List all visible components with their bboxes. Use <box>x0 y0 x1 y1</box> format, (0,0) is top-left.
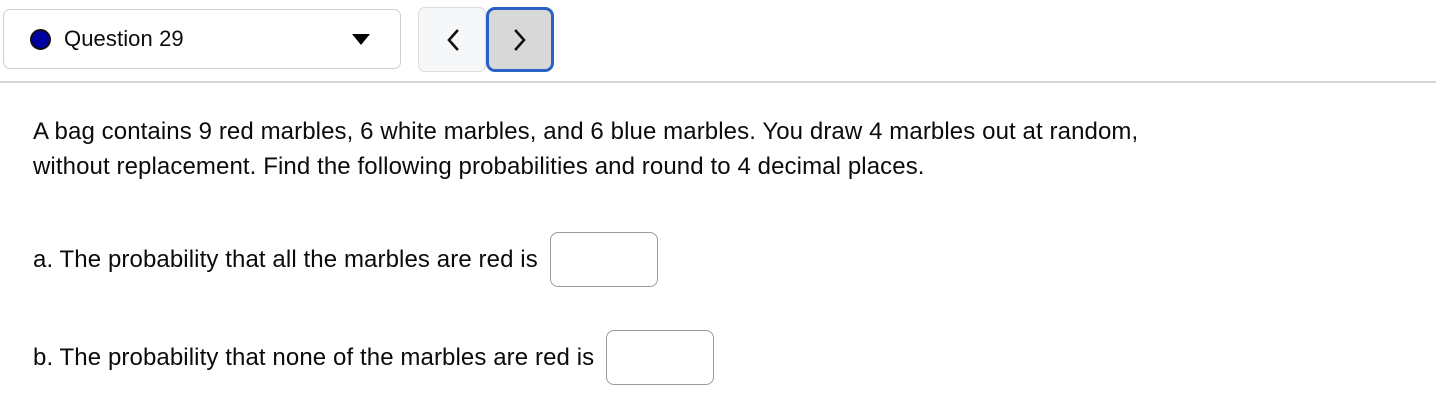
chevron-down-icon <box>352 34 370 45</box>
problem-statement-line-2: without replacement. Find the following … <box>33 149 1403 184</box>
chevron-left-icon <box>446 29 459 51</box>
answer-input-a[interactable] <box>550 232 658 287</box>
toolbar-divider <box>0 81 1436 83</box>
next-question-button[interactable] <box>486 7 554 72</box>
problem-statement-line-1: A bag contains 9 red marbles, 6 white ma… <box>33 114 1403 149</box>
problem-statement: A bag contains 9 red marbles, 6 white ma… <box>33 114 1403 184</box>
question-status-dot <box>30 29 51 50</box>
answer-input-b[interactable] <box>606 330 714 385</box>
question-part-a-label: a. The probability that all the marbles … <box>33 248 538 272</box>
question-part-b: b. The probability that none of the marb… <box>33 330 714 385</box>
question-selector-dropdown[interactable]: Question 29 <box>3 9 401 69</box>
question-toolbar: Question 29 <box>0 0 1436 82</box>
previous-question-button[interactable] <box>418 7 486 72</box>
question-selector-label: Question 29 <box>64 28 184 50</box>
chevron-right-icon <box>514 29 527 51</box>
question-part-a: a. The probability that all the marbles … <box>33 232 658 287</box>
question-part-b-label: b. The probability that none of the marb… <box>33 346 594 370</box>
